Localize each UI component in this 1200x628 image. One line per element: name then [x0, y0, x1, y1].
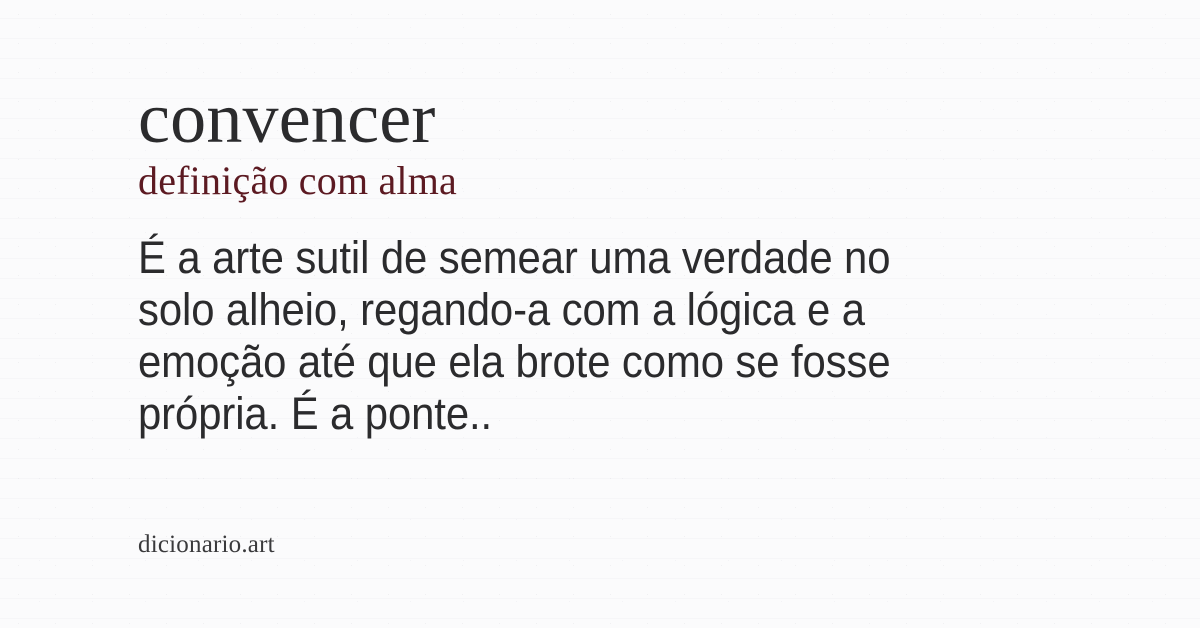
definition-line: solo alheio, regando-a com a lógica e a: [138, 284, 956, 336]
headword-tagline: definição com alma: [138, 154, 457, 204]
definition-line: É a arte sutil de semear uma verdade no: [138, 232, 956, 284]
site-attribution: dicionario.art: [138, 531, 275, 559]
definition-line: emoção até que ela brote como se fosse: [138, 336, 956, 388]
headline-block: convencer definição com alma: [138, 82, 457, 204]
definition-card: convencer definição com alma É a arte su…: [0, 0, 1200, 628]
definition-text: É a arte sutil de semear uma verdade no …: [138, 232, 956, 440]
card-content: convencer definição com alma É a arte su…: [138, 0, 1138, 628]
headword-title: convencer: [138, 82, 457, 154]
definition-line: própria. É a ponte..: [138, 388, 956, 440]
